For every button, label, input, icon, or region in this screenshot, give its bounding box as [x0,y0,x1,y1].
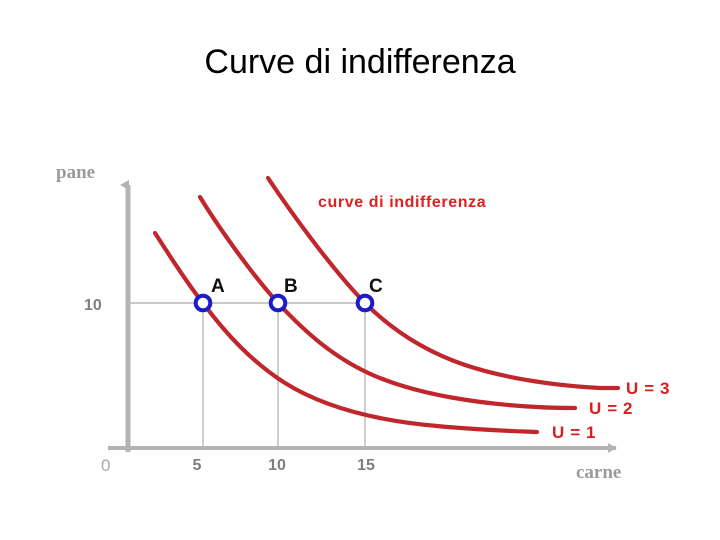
point-marker-b[interactable] [271,296,286,311]
point-marker-c[interactable] [358,296,373,311]
gridlines-group [128,303,372,448]
origin-label: 0 [101,456,110,475]
y-axis-label: pane [56,162,95,183]
x-axis-label: carne [576,462,621,483]
curve-family-annotation: curve di indifferenza [318,194,486,211]
y-tick-label-10: 10 [84,297,102,314]
point-marker-a[interactable] [196,296,211,311]
x-tick-label-15: 15 [357,457,375,474]
curve-label-u1: U = 1 [552,423,596,442]
slide-canvas: Curve di indifferenza [0,0,720,540]
point-label-b: B [284,276,298,297]
curve-label-u3: U = 3 [626,379,670,398]
curves-group [155,178,618,433]
x-tick-label-5: 5 [193,457,202,474]
point-label-c: C [369,276,383,297]
page-title: Curve di indifferenza [0,42,720,82]
indifference-curves-figure: pane carne 0 10 5 10 15 A B C curve di i… [0,140,720,520]
chart-svg: pane carne 0 10 5 10 15 A B C curve di i… [0,140,720,520]
point-label-a: A [211,276,225,297]
x-tick-label-10: 10 [268,457,286,474]
curve-label-u2: U = 2 [589,399,633,418]
